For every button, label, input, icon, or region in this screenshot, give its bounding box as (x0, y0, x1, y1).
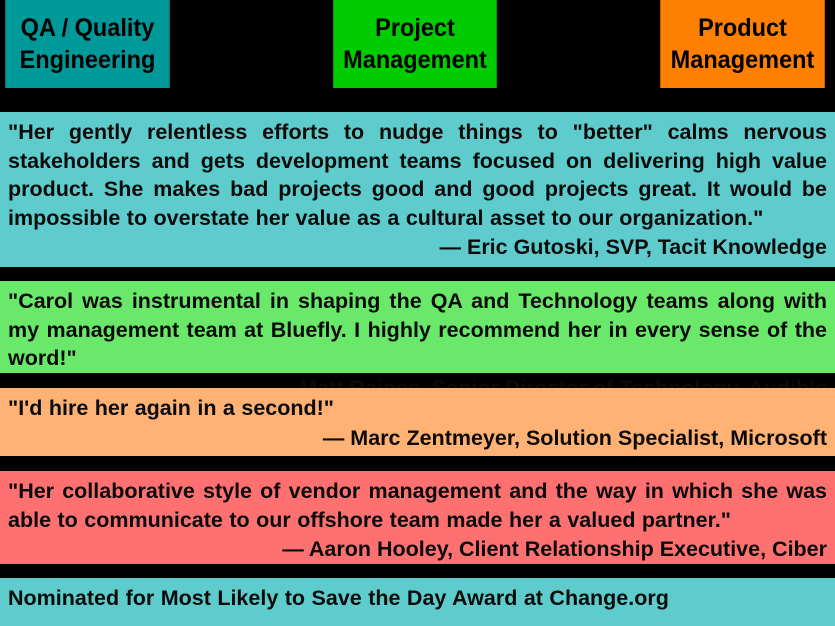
tab-project-management[interactable]: Project Management (333, 0, 497, 88)
testimonial-quote: "I'd hire her again in a second!" (8, 394, 827, 423)
tab-qa-quality-engineering[interactable]: QA / Quality Engineering (5, 0, 170, 88)
tab-label: Product Management (664, 12, 821, 76)
testimonials-page: QA / Quality Engineering Project Managem… (0, 0, 835, 626)
testimonial-card: "Her collaborative style of vendor manag… (0, 471, 835, 564)
testimonial-quote: "Carol was instrumental in shaping the Q… (8, 287, 827, 373)
tab-product-management[interactable]: Product Management (660, 0, 825, 88)
testimonial-attribution: — Eric Gutoski, SVP, Tacit Knowledge (8, 233, 827, 262)
award-nomination-text: Nominated for Most Likely to Save the Da… (8, 584, 827, 613)
testimonial-quote: "Her gently relentless efforts to nudge … (8, 118, 827, 232)
tab-label: QA / Quality Engineering (9, 12, 166, 76)
testimonial-quote: "Her collaborative style of vendor manag… (8, 477, 827, 534)
testimonial-card: "I'd hire her again in a second!" — Marc… (0, 388, 835, 456)
testimonial-card: "Her gently relentless efforts to nudge … (0, 112, 835, 267)
testimonial-card: "Carol was instrumental in shaping the Q… (0, 281, 835, 373)
award-nomination-card: Nominated for Most Likely to Save the Da… (0, 578, 835, 626)
testimonial-attribution: — Marc Zentmeyer, Solution Specialist, M… (8, 424, 827, 453)
testimonial-attribution: — Aaron Hooley, Client Relationship Exec… (8, 535, 827, 564)
tab-label: Project Management (337, 12, 493, 76)
category-tab-bar: QA / Quality Engineering Project Managem… (0, 0, 835, 88)
